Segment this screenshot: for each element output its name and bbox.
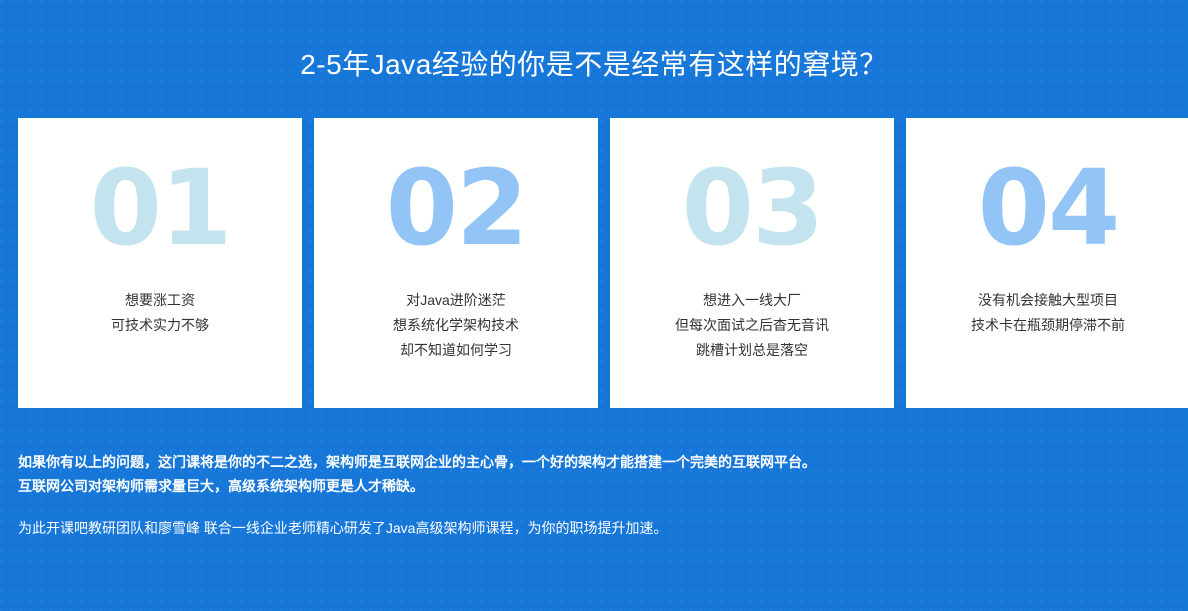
- footer-paragraph-normal: 为此开课吧教研团队和廖雪峰 联合一线企业老师精心研发了Java高级架构师课程，为…: [18, 516, 1168, 540]
- footer-copy: 如果你有以上的问题，这门课将是你的不二之选，架构师是互联网企业的主心骨，一个好的…: [18, 450, 1168, 540]
- pain-point-card-list: 01 想要涨工资 可技术实力不够 02 对Java进阶迷茫 想系统化学架构技术 …: [18, 118, 1188, 408]
- card-text-01: 想要涨工资 可技术实力不够: [111, 288, 209, 338]
- card-line: 想系统化学架构技术: [393, 313, 519, 338]
- footer-paragraph-bold: 如果你有以上的问题，这门课将是你的不二之选，架构师是互联网企业的主心骨，一个好的…: [18, 450, 1168, 498]
- page-title: 2-5年Java经验的你是不是经常有这样的窘境？: [0, 48, 1188, 82]
- card-text-04: 没有机会接触大型项目 技术卡在瓶颈期停滞不前: [971, 288, 1125, 338]
- card-line: 但每次面试之后杳无音讯: [675, 313, 829, 338]
- card-number-04: 04: [978, 156, 1119, 260]
- card-line: 技术卡在瓶颈期停滞不前: [971, 313, 1125, 338]
- card-line: 没有机会接触大型项目: [971, 288, 1125, 313]
- pain-point-card-04: 04 没有机会接触大型项目 技术卡在瓶颈期停滞不前: [906, 118, 1188, 408]
- card-number-01: 01: [90, 156, 231, 260]
- card-number-02: 02: [386, 156, 527, 260]
- footer-bold-line-2: 互联网公司对架构师需求量巨大，高级系统架构师更是人才稀缺。: [18, 474, 1168, 498]
- card-line: 想要涨工资: [111, 288, 209, 313]
- pain-point-card-01: 01 想要涨工资 可技术实力不够: [18, 118, 302, 408]
- card-text-03: 想进入一线大厂 但每次面试之后杳无音讯 跳槽计划总是落空: [675, 288, 829, 363]
- card-number-03: 03: [682, 156, 823, 260]
- card-line: 想进入一线大厂: [675, 288, 829, 313]
- card-line: 跳槽计划总是落空: [675, 338, 829, 363]
- card-line: 却不知道如何学习: [393, 338, 519, 363]
- card-line: 可技术实力不够: [111, 313, 209, 338]
- card-line: 对Java进阶迷茫: [393, 288, 519, 313]
- pain-point-card-02: 02 对Java进阶迷茫 想系统化学架构技术 却不知道如何学习: [314, 118, 598, 408]
- card-text-02: 对Java进阶迷茫 想系统化学架构技术 却不知道如何学习: [393, 288, 519, 363]
- page-header: 2-5年Java经验的你是不是经常有这样的窘境？: [0, 0, 1188, 82]
- footer-bold-line-1: 如果你有以上的问题，这门课将是你的不二之选，架构师是互联网企业的主心骨，一个好的…: [18, 450, 1168, 474]
- pain-point-card-03: 03 想进入一线大厂 但每次面试之后杳无音讯 跳槽计划总是落空: [610, 118, 894, 408]
